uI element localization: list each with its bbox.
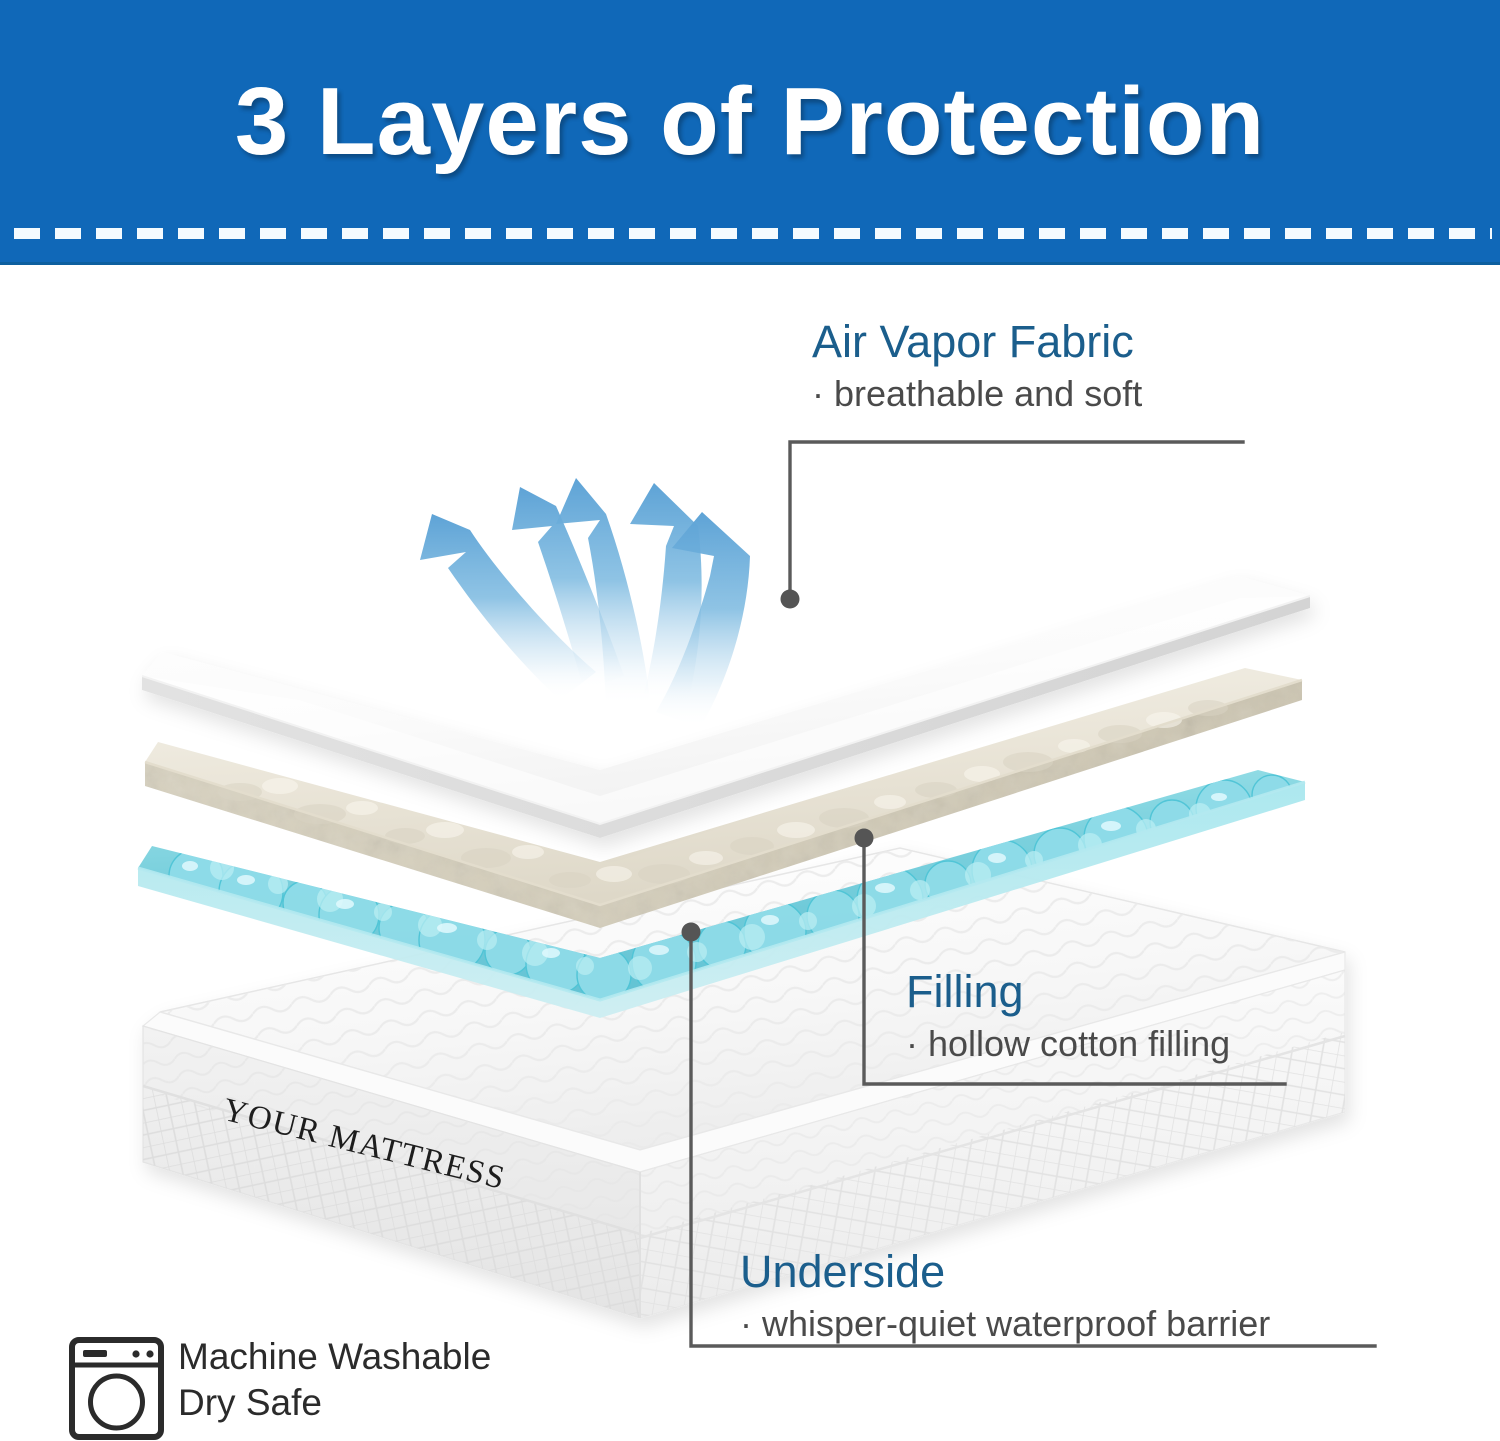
leader-dots: [682, 590, 874, 942]
mattress-label: YOUR MATTRESS: [219, 1092, 509, 1198]
page-title: 3 Layers of Protection: [0, 72, 1500, 173]
callout-air-vapor-fabric: Air Vapor Fabric · breathable and soft: [812, 318, 1142, 415]
callout-filling: Filling · hollow cotton filling: [906, 968, 1230, 1065]
leader-lines: [691, 442, 1375, 1346]
care-text: Machine Washable Dry Safe: [178, 1334, 491, 1427]
leader-dot-underside: [682, 923, 701, 942]
washing-machine-icon: [68, 1336, 165, 1441]
dashed-divider: [14, 228, 1492, 239]
infographic-page: 3 Layers of Protection: [0, 0, 1500, 1441]
leader-dot-air-vapor-fabric: [781, 590, 800, 609]
callout-bullet-air-vapor-fabric: · breathable and soft: [812, 373, 1142, 414]
callout-title-filling: Filling: [906, 968, 1230, 1015]
banner-bottom-rule: [0, 262, 1500, 265]
callout-bullet-filling: · hollow cotton filling: [906, 1023, 1230, 1064]
care-line-1: Machine Washable: [178, 1334, 491, 1380]
callout-bullet-underside: · whisper-quiet waterproof barrier: [740, 1303, 1270, 1344]
callout-underside: Underside · whisper-quiet waterproof bar…: [740, 1248, 1270, 1345]
callout-title-underside: Underside: [740, 1248, 1270, 1295]
callout-title-air-vapor-fabric: Air Vapor Fabric: [812, 318, 1142, 365]
airflow-arrows: [420, 478, 750, 728]
header-banner: 3 Layers of Protection: [0, 0, 1500, 264]
care-line-2: Dry Safe: [178, 1380, 491, 1426]
leader-line-air-vapor-fabric: [790, 442, 1243, 598]
leader-dot-filling: [855, 829, 874, 848]
air-vapor-fabric-layer: [142, 576, 1310, 838]
hollow-cotton-filling-layer: [130, 650, 1320, 950]
